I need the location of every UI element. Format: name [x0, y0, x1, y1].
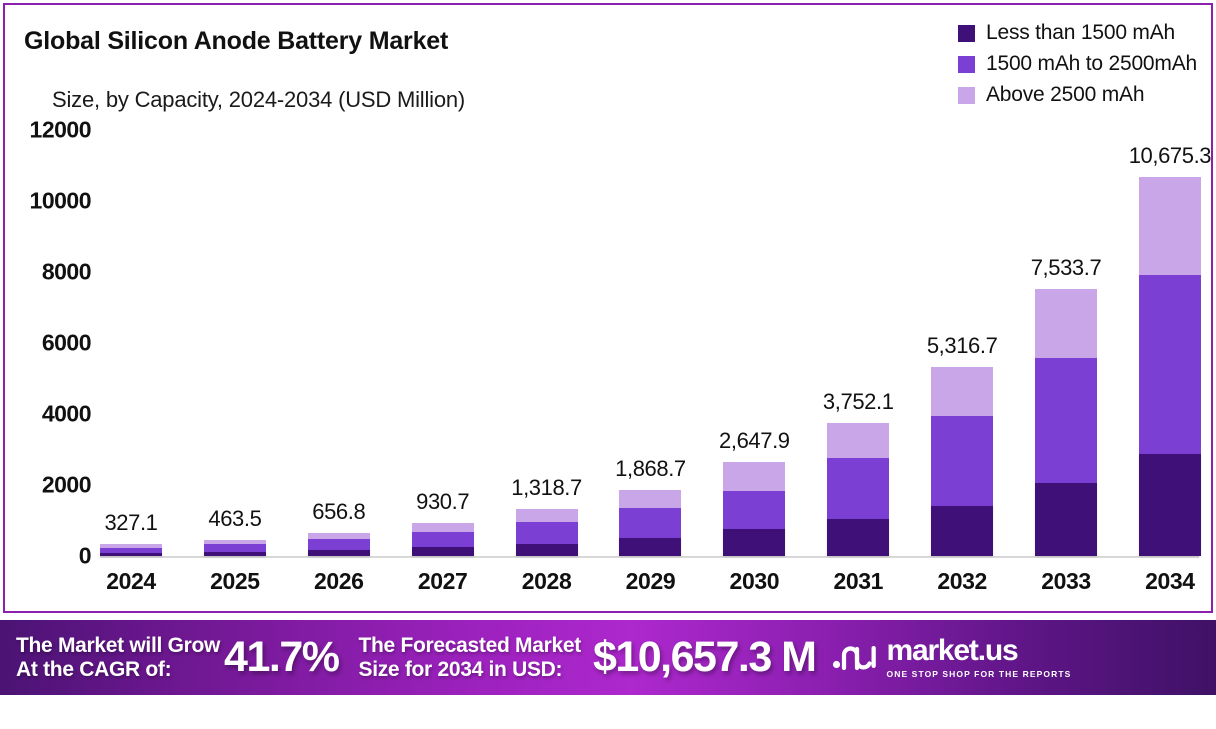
bar-column[interactable]: 463.5 [204, 130, 266, 556]
bar-value-label: 5,316.7 [927, 333, 998, 359]
x-axis-tick-label: 2025 [204, 568, 266, 595]
bar-value-label: 1,868.7 [615, 456, 686, 482]
legend-item-0[interactable]: Less than 1500 mAh [958, 21, 1175, 45]
bar-stack [100, 544, 162, 556]
chart-infographic: Global Silicon Anode Battery Market Size… [0, 0, 1216, 729]
x-axis-tick-label: 2024 [100, 568, 162, 595]
bar-stack [412, 523, 474, 556]
legend-item-label: Less than 1500 mAh [986, 21, 1175, 45]
market-us-monogram-icon [832, 638, 878, 677]
bar-segment [412, 532, 474, 547]
bar-value-label: 1,318.7 [511, 475, 582, 501]
bar-value-label: 3,752.1 [823, 389, 894, 415]
bar-stack [931, 367, 993, 556]
bar-segment [723, 491, 785, 529]
plot-area: 120001000080006000400020000 327.1463.565… [5, 130, 1211, 610]
x-axis-tick-label: 2026 [308, 568, 370, 595]
bar-value-label: 327.1 [104, 510, 157, 536]
y-axis: 120001000080006000400020000 [5, 130, 97, 560]
bar-stack [204, 540, 266, 556]
chart-legend: Less than 1500 mAh1500 mAh to 2500mAhAbo… [958, 21, 1197, 107]
bar-stack [723, 462, 785, 556]
legend-swatch-icon [958, 56, 975, 73]
summary-banner: The Market will Grow At the CAGR of: 41.… [0, 620, 1216, 695]
bar-column[interactable]: 10,675.3 [1139, 130, 1201, 556]
legend-swatch-icon [958, 25, 975, 42]
bar-segment [204, 544, 266, 552]
bar-segment [619, 508, 681, 539]
bar-stack [516, 509, 578, 556]
cagr-caption-line2: At the CAGR of: [16, 658, 220, 682]
bar-segment [1139, 177, 1201, 275]
bar-column[interactable]: 2,647.9 [723, 130, 785, 556]
market-us-tagline: ONE STOP SHOP FOR THE REPORTS [887, 669, 1072, 679]
y-axis-tick: 10000 [30, 188, 91, 215]
bar-segment [931, 416, 993, 507]
x-axis-tick-label: 2034 [1139, 568, 1201, 595]
bar-segment [204, 552, 266, 556]
market-us-wordmark: market.us ONE STOP SHOP FOR THE REPORTS [887, 636, 1072, 679]
forecast-value: $10,657.3 M [593, 633, 816, 682]
bar-segment [100, 553, 162, 556]
bar-value-label: 656.8 [312, 499, 365, 525]
bar-segment [412, 523, 474, 532]
bar-segment [619, 538, 681, 556]
cagr-value: 41.7% [224, 633, 338, 682]
bar-segment [308, 539, 370, 550]
bar-column[interactable]: 3,752.1 [827, 130, 889, 556]
bar-segment [1139, 454, 1201, 556]
page-title: Global Silicon Anode Battery Market [24, 27, 448, 56]
bar-column[interactable]: 327.1 [100, 130, 162, 556]
bar-segment [931, 367, 993, 416]
bar-stack [308, 533, 370, 556]
legend-swatch-icon [958, 87, 975, 104]
bar-segment [827, 458, 889, 519]
bar-stack [827, 423, 889, 556]
bar-column[interactable]: 7,533.7 [1035, 130, 1097, 556]
bar-segment [827, 519, 889, 556]
cagr-caption: The Market will Grow At the CAGR of: [16, 634, 220, 681]
bar-column[interactable]: 656.8 [308, 130, 370, 556]
bar-value-label: 7,533.7 [1031, 255, 1102, 281]
legend-item-1[interactable]: 1500 mAh to 2500mAh [958, 52, 1197, 76]
bar-stack [619, 490, 681, 556]
legend-item-2[interactable]: Above 2500 mAh [958, 83, 1144, 107]
bar-segment [516, 509, 578, 522]
x-axis-tick-label: 2032 [931, 568, 993, 595]
bar-segment [723, 529, 785, 556]
x-axis-tick-label: 2028 [516, 568, 578, 595]
bar-column[interactable]: 1,868.7 [619, 130, 681, 556]
bar-column[interactable]: 1,318.7 [516, 130, 578, 556]
x-axis-tick-label: 2033 [1035, 568, 1097, 595]
bar-segment [1035, 358, 1097, 482]
y-axis-tick: 4000 [42, 401, 91, 428]
legend-item-label: Above 2500 mAh [986, 83, 1144, 107]
y-axis-tick: 12000 [30, 117, 91, 144]
y-axis-tick: 2000 [42, 472, 91, 499]
bar-stack [1035, 289, 1097, 556]
forecast-caption-line1: The Forecasted Market [358, 634, 580, 658]
x-axis-tick-label: 2031 [827, 568, 889, 595]
bar-segment [723, 462, 785, 491]
y-axis-tick: 8000 [42, 259, 91, 286]
bar-value-label: 2,647.9 [719, 428, 790, 454]
y-axis-tick: 0 [79, 543, 91, 570]
chart-card: Global Silicon Anode Battery Market Size… [3, 3, 1213, 613]
y-axis-tick: 6000 [42, 330, 91, 357]
bar-segment [619, 490, 681, 508]
x-axis-labels: 2024202520262027202820292030203120322033… [100, 568, 1201, 595]
bar-segment [931, 506, 993, 556]
cagr-caption-line1: The Market will Grow [16, 634, 220, 658]
bar-column[interactable]: 5,316.7 [931, 130, 993, 556]
forecast-caption-line2: Size for 2034 in USD: [358, 658, 580, 682]
bar-segment [1035, 289, 1097, 359]
bar-value-label: 463.5 [208, 506, 261, 532]
legend-item-label: 1500 mAh to 2500mAh [986, 52, 1197, 76]
bar-segment [1035, 483, 1097, 556]
x-axis-tick-label: 2027 [412, 568, 474, 595]
bar-segment [308, 550, 370, 556]
market-us-logo[interactable]: market.us ONE STOP SHOP FOR THE REPORTS [832, 636, 1072, 679]
chart-subtitle: Size, by Capacity, 2024-2034 (USD Millio… [52, 87, 465, 113]
bar-segment [516, 522, 578, 543]
x-axis-tick-label: 2030 [723, 568, 785, 595]
market-us-word: market.us [887, 634, 1018, 667]
bar-value-label: 930.7 [416, 489, 469, 515]
bar-segment [1139, 275, 1201, 454]
bar-segment [827, 423, 889, 458]
forecast-caption: The Forecasted Market Size for 2034 in U… [358, 634, 580, 681]
bars-area: 327.1463.5656.8930.71,318.71,868.72,647.… [100, 130, 1201, 560]
bar-stack [1139, 177, 1201, 556]
bar-segment [516, 544, 578, 556]
bar-value-label: 10,675.3 [1129, 143, 1211, 169]
bar-column[interactable]: 930.7 [412, 130, 474, 556]
bar-segment [412, 547, 474, 556]
x-axis-tick-label: 2029 [619, 568, 681, 595]
